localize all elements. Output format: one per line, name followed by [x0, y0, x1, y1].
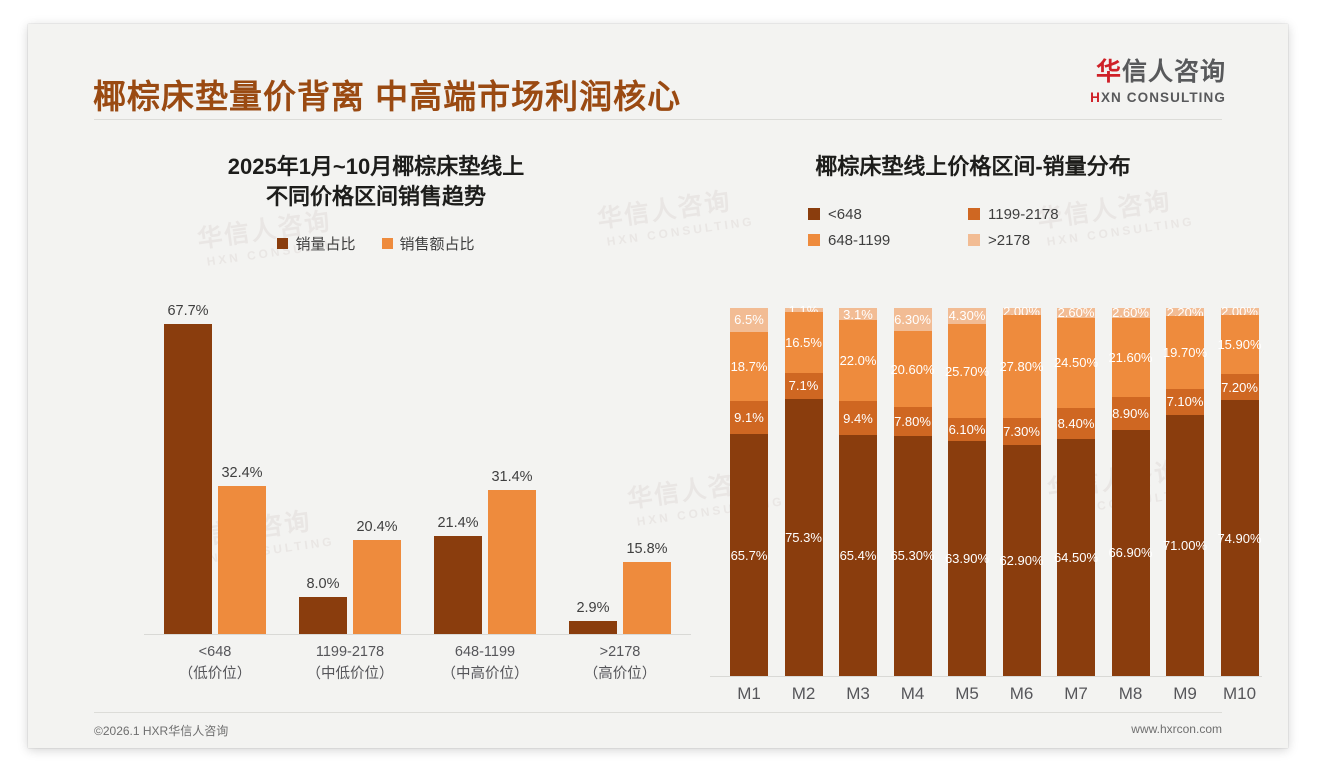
- legend-item-648-1199[interactable]: 648-1199: [808, 232, 968, 249]
- stacked-bar-segment[interactable]: 7.10%: [1166, 389, 1204, 415]
- right-chart-legend: <648 1199-2178 648-1199 >2178: [808, 206, 1138, 249]
- header-divider: [94, 119, 1222, 120]
- stacked-bar-column[interactable]: 6.5%18.7%9.1%65.7%: [722, 308, 776, 676]
- stacked-bar-segment[interactable]: 9.1%: [730, 401, 768, 434]
- stacked-bar-segment[interactable]: 19.70%: [1166, 316, 1204, 388]
- bar-column[interactable]: 2.9%: [569, 621, 617, 634]
- x-axis-category-label: 1199-2178（中低价位）: [287, 642, 413, 686]
- bar-group: 8.0%20.4%: [287, 304, 413, 634]
- bar-value-label: 20.4%: [356, 519, 397, 535]
- stacked-bar-segment[interactable]: 8.90%: [1112, 397, 1150, 430]
- bar-column[interactable]: 32.4%: [218, 486, 266, 634]
- x-axis-month-label: M9: [1158, 684, 1212, 704]
- x-axis-category-label: >2178（高价位）: [557, 642, 683, 686]
- x-axis-range: 648-1199: [455, 644, 515, 660]
- bar[interactable]: [299, 597, 347, 634]
- stacked-bar-segment[interactable]: 27.80%: [1003, 315, 1041, 417]
- stacked-bar-column[interactable]: 6.30%20.60%7.80%65.30%: [886, 308, 940, 676]
- x-axis-tier: （中低价位）: [287, 664, 413, 686]
- legend-item-sales-value[interactable]: 销售额占比: [382, 233, 475, 254]
- stacked-bar-column[interactable]: 2.60%21.60%8.90%66.90%: [1104, 308, 1158, 676]
- slide-header: 椰棕床垫量价背离 中高端市场利润核心 华信人咨询 HXN CONSULTING: [28, 24, 1288, 120]
- stacked-bar-segment[interactable]: 25.70%: [948, 324, 986, 419]
- bar-group: 67.7%32.4%: [152, 304, 278, 634]
- stacked-bar-segment[interactable]: 71.00%: [1166, 415, 1204, 676]
- stacked-bar-segment[interactable]: 24.50%: [1057, 318, 1095, 408]
- stacked-bar-column[interactable]: 1.1%16.5%7.1%75.3%: [777, 308, 831, 676]
- stacked-bar-segment[interactable]: 2.60%: [1112, 308, 1150, 318]
- legend-swatch: [968, 234, 980, 246]
- stacked-bar-segment[interactable]: 15.90%: [1221, 315, 1259, 374]
- left-chart-x-axis-line: [144, 634, 691, 635]
- legend-swatch: [968, 208, 980, 220]
- stacked-bar-column[interactable]: 2.20%19.70%7.10%71.00%: [1158, 308, 1212, 676]
- bar[interactable]: [623, 562, 671, 634]
- stacked-bar-segment[interactable]: 2.60%: [1057, 308, 1095, 318]
- legend-item-under-648[interactable]: <648: [808, 206, 968, 223]
- stacked-bar-segment[interactable]: 63.90%: [948, 441, 986, 676]
- page-title: 椰棕床垫量价背离 中高端市场利润核心: [93, 70, 681, 118]
- stacked-bar-segment[interactable]: 8.40%: [1057, 408, 1095, 439]
- x-axis-month-label: M4: [886, 684, 940, 704]
- logo-english-text: HXN CONSULTING: [1090, 91, 1226, 105]
- stacked-bar-segment[interactable]: 74.90%: [1221, 400, 1259, 676]
- x-axis-month-label: M2: [777, 684, 831, 704]
- stacked-bar-segment[interactable]: 7.20%: [1221, 374, 1259, 400]
- bar-value-label: 15.8%: [626, 541, 667, 557]
- right-chart-title: 椰棕床垫线上价格区间-销量分布: [678, 152, 1268, 182]
- x-axis-category-label: <648（低价位）: [152, 642, 278, 686]
- bar-value-label: 32.4%: [221, 465, 262, 481]
- stacked-bar-segment[interactable]: 6.30%: [894, 308, 932, 331]
- x-axis-month-label: M7: [1049, 684, 1103, 704]
- left-chart-title: 2025年1月~10月椰棕床垫线上 不同价格区间销售趋势: [66, 152, 686, 211]
- left-chart-panel: 2025年1月~10月椰棕床垫线上 不同价格区间销售趋势 销量占比 销售额占比 …: [66, 136, 686, 696]
- logo-h-char: H: [1090, 90, 1101, 105]
- bar[interactable]: [218, 486, 266, 634]
- stacked-bar-column[interactable]: 3.1%22.0%9.4%65.4%: [831, 308, 885, 676]
- bar-value-label: 2.9%: [576, 600, 609, 616]
- stacked-bar-segment[interactable]: 7.30%: [1003, 418, 1041, 445]
- x-axis-month-label: M10: [1213, 684, 1267, 704]
- logo-hua-char: 华: [1096, 58, 1122, 86]
- legend-swatch: [808, 208, 820, 220]
- stacked-bar-segment[interactable]: 65.30%: [894, 436, 932, 676]
- legend-item-1199-2178[interactable]: 1199-2178: [968, 206, 1138, 223]
- stacked-bar-segment[interactable]: 2.20%: [1166, 308, 1204, 316]
- stacked-bar-segment[interactable]: 18.7%: [730, 332, 768, 401]
- x-axis-category-label: 648-1199（中高价位）: [422, 642, 548, 686]
- stacked-bar-segment[interactable]: 6.5%: [730, 308, 768, 332]
- stacked-bar-segment[interactable]: 16.5%: [785, 312, 823, 373]
- company-logo: 华信人咨询 HXN CONSULTING: [1090, 60, 1226, 105]
- stacked-bar-column[interactable]: 2.00%15.90%7.20%74.90%: [1213, 308, 1267, 676]
- bar[interactable]: [434, 536, 482, 634]
- stacked-bar-segment[interactable]: 22.0%: [839, 320, 877, 401]
- bar-value-label: 21.4%: [437, 515, 478, 531]
- logo-en-rest: XN CONSULTING: [1101, 90, 1226, 105]
- legend-label: 销量占比: [295, 233, 355, 254]
- left-chart-legend: 销量占比 销售额占比: [66, 233, 686, 254]
- stacked-bar-segment[interactable]: 4.30%: [948, 308, 986, 324]
- legend-swatch: [808, 234, 820, 246]
- stacked-bar-segment[interactable]: 2.00%: [1221, 308, 1259, 315]
- legend-item-over-2178[interactable]: >2178: [968, 232, 1138, 249]
- x-axis-range: 1199-2178: [316, 644, 384, 660]
- x-axis-month-label: M1: [722, 684, 776, 704]
- bar-column[interactable]: 21.4%: [434, 536, 482, 634]
- bar[interactable]: [488, 490, 536, 634]
- bar-value-label: 67.7%: [167, 303, 208, 319]
- bar-column[interactable]: 31.4%: [488, 490, 536, 634]
- stacked-bar-segment[interactable]: 65.4%: [839, 435, 877, 676]
- stacked-bar-segment[interactable]: 64.50%: [1057, 439, 1095, 676]
- left-chart-title-line1: 2025年1月~10月椰棕床垫线上: [66, 152, 686, 182]
- left-chart-plot-area: 67.7%32.4%8.0%20.4%21.4%31.4%2.9%15.8%: [144, 304, 684, 634]
- x-axis-month-label: M3: [831, 684, 885, 704]
- bar-column[interactable]: 20.4%: [353, 540, 401, 634]
- stacked-bar-segment[interactable]: 7.1%: [785, 373, 823, 399]
- stacked-bar-column[interactable]: 4.30%25.70%6.10%63.90%: [940, 308, 994, 676]
- footer-divider: [94, 712, 1222, 713]
- x-axis-month-label: M8: [1104, 684, 1158, 704]
- x-axis-tier: （低价位）: [152, 664, 278, 686]
- stacked-bar-segment[interactable]: 2.00%: [1003, 308, 1041, 315]
- x-axis-month-label: M5: [940, 684, 994, 704]
- bar-column[interactable]: 8.0%: [299, 597, 347, 634]
- right-chart-panel: 椰棕床垫线上价格区间-销量分布 <648 1199-2178 648-1199 …: [678, 136, 1268, 696]
- bar[interactable]: [569, 621, 617, 634]
- bar[interactable]: [164, 324, 212, 634]
- x-axis-tier: （中高价位）: [422, 664, 548, 686]
- left-chart-title-line2: 不同价格区间销售趋势: [66, 182, 686, 212]
- stacked-bar-segment[interactable]: 21.60%: [1112, 318, 1150, 397]
- bar[interactable]: [353, 540, 401, 634]
- stacked-bar-segment[interactable]: 62.90%: [1003, 445, 1041, 676]
- slide-canvas: 华信人咨询 HXN CONSULTING 华信人咨询 HXN CONSULTIN…: [28, 24, 1288, 748]
- right-chart-x-axis-line: [710, 676, 1262, 677]
- logo-chinese-text: 华信人咨询: [1090, 60, 1226, 85]
- stacked-bar-segment[interactable]: 9.4%: [839, 401, 877, 436]
- stacked-bar-segment[interactable]: 7.80%: [894, 407, 932, 436]
- bar-column[interactable]: 15.8%: [623, 562, 671, 634]
- stacked-bar-column[interactable]: 2.00%27.80%7.30%62.90%: [995, 308, 1049, 676]
- bar-value-label: 8.0%: [306, 576, 339, 592]
- bar-group: 21.4%31.4%: [422, 304, 548, 634]
- legend-label: 1199-2178: [988, 206, 1059, 223]
- x-axis-month-label: M6: [995, 684, 1049, 704]
- stacked-bar-segment[interactable]: 20.60%: [894, 331, 932, 407]
- stacked-bar-segment[interactable]: 3.1%: [839, 308, 877, 319]
- stacked-bar-segment[interactable]: 65.7%: [730, 434, 768, 676]
- legend-label: 销售额占比: [400, 233, 475, 254]
- bar-column[interactable]: 67.7%: [164, 324, 212, 634]
- footer-copyright: ©2026.1 HXR华信人咨询: [94, 722, 228, 739]
- x-axis-range: >2178: [600, 644, 641, 660]
- stacked-bar-segment[interactable]: 66.90%: [1112, 430, 1150, 676]
- bar-value-label: 31.4%: [491, 469, 532, 485]
- legend-item-sales-volume[interactable]: 销量占比: [277, 233, 355, 254]
- stacked-bar-column[interactable]: 2.60%24.50%8.40%64.50%: [1049, 308, 1103, 676]
- legend-swatch: [382, 238, 393, 249]
- legend-label: <648: [828, 206, 862, 223]
- legend-label: >2178: [988, 232, 1030, 249]
- x-axis-tier: （高价位）: [557, 664, 683, 686]
- footer-website[interactable]: www.hxrcon.com: [1131, 722, 1222, 736]
- right-chart-plot-area: 6.5%18.7%9.1%65.7%1.1%16.5%7.1%75.3%3.1%…: [716, 308, 1256, 676]
- legend-label: 648-1199: [828, 232, 890, 249]
- stacked-bar-segment[interactable]: 75.3%: [785, 399, 823, 676]
- logo-cn-rest: 信人咨询: [1122, 58, 1226, 86]
- bar-group: 2.9%15.8%: [557, 304, 683, 634]
- legend-swatch: [277, 238, 288, 249]
- x-axis-range: <648: [199, 644, 232, 660]
- stacked-bar-segment[interactable]: 6.10%: [948, 418, 986, 440]
